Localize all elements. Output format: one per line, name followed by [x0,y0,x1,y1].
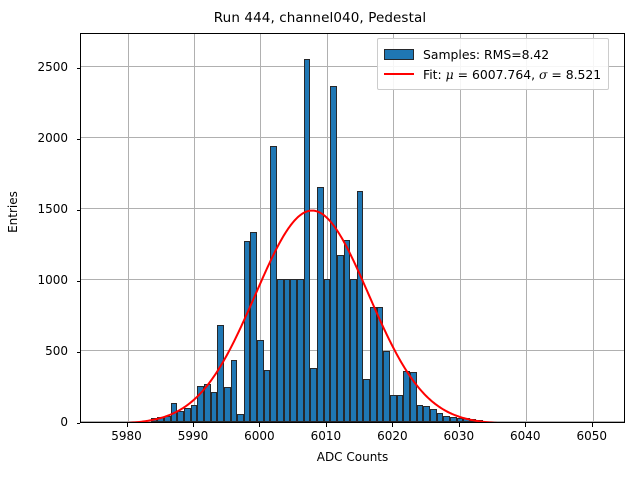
y-tick-label: 500 [0,344,68,358]
fit-path [81,211,566,423]
x-tick-mark [592,423,593,427]
x-tick-mark [127,423,128,427]
y-tick-mark [77,281,81,282]
chart-legend: Samples: RMS=8.42 Fit: μ = 6007.764, σ =… [377,38,609,90]
legend-label-samples: Samples: RMS=8.42 [423,47,549,62]
x-tick-label: 6050 [562,429,622,443]
y-axis-label: Entries [6,122,20,302]
plot-area [80,33,625,423]
x-tick-mark [392,423,393,427]
y-tick-label: 0 [0,415,68,429]
chart-figure: Run 444, channel040, Pedestal 5980599060… [0,0,640,480]
legend-swatch-samples [384,49,414,60]
x-axis-label: ADC Counts [80,450,625,464]
y-tick-mark [77,139,81,140]
legend-label-fit: Fit: μ = 6007.764, σ = 8.521 [423,67,601,82]
x-tick-mark [193,423,194,427]
x-tick-label: 6020 [362,429,422,443]
legend-item-samples: Samples: RMS=8.42 [384,44,601,64]
x-tick-label: 6040 [495,429,555,443]
y-tick-label: 2500 [0,60,68,74]
y-tick-mark [77,423,81,424]
x-tick-mark [525,423,526,427]
y-tick-mark [77,68,81,69]
x-tick-label: 6000 [229,429,289,443]
legend-item-fit: Fit: μ = 6007.764, σ = 8.521 [384,64,601,84]
gaussian-fit-curve [81,34,624,422]
legend-swatch-fit [384,73,414,75]
x-tick-mark [259,423,260,427]
x-tick-label: 5990 [163,429,223,443]
y-tick-mark [77,210,81,211]
x-tick-label: 5980 [97,429,157,443]
x-tick-label: 6010 [296,429,356,443]
x-tick-mark [459,423,460,427]
chart-title: Run 444, channel040, Pedestal [0,10,640,26]
x-tick-mark [326,423,327,427]
y-tick-mark [77,352,81,353]
x-tick-label: 6030 [429,429,489,443]
